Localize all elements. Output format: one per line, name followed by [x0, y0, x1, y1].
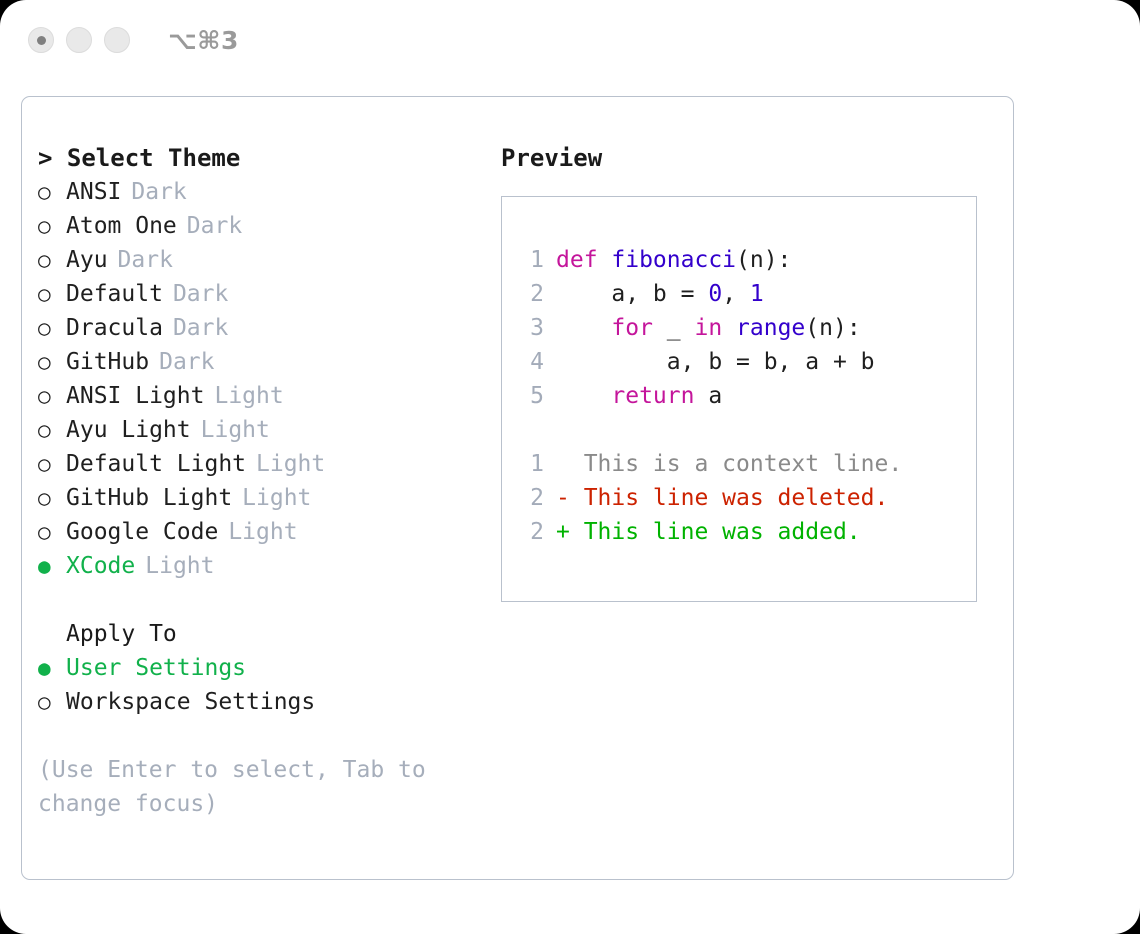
theme-option-label: Default [66, 277, 163, 311]
line-number: 2 [518, 481, 544, 515]
theme-option-label: Google Code [66, 515, 218, 549]
radio-unselected-icon: ○ [38, 311, 66, 345]
theme-option-label: Default Light [66, 447, 246, 481]
apply-option-label: User Settings [66, 651, 246, 685]
window-titlebar: ⌥⌘3 [0, 0, 1140, 80]
radio-unselected-icon: ○ [38, 243, 66, 277]
code-sample: 1def fibonacci(n):2 a, b = 0, 13 for _ i… [518, 243, 976, 413]
radio-unselected-icon: ○ [38, 175, 66, 209]
list-spacer [38, 583, 488, 617]
theme-option-label: XCode [66, 549, 135, 583]
theme-category-label: Dark [118, 243, 173, 277]
token-fn: range [736, 315, 805, 341]
line-number: 2 [518, 277, 544, 311]
theme-option-github[interactable]: ○GitHubDark [38, 345, 488, 379]
preview-box: 1def fibonacci(n):2 a, b = 0, 13 for _ i… [501, 196, 977, 602]
theme-option-ansi-light[interactable]: ○ANSI LightLight [38, 379, 488, 413]
theme-category-label: Light [228, 515, 297, 549]
theme-option-label: Ayu Light [66, 413, 191, 447]
theme-option-label: ANSI [66, 175, 121, 209]
active-indicator-dot [37, 36, 46, 45]
theme-category-label: Dark [173, 311, 228, 345]
keyboard-shortcut-label: ⌥⌘3 [168, 26, 239, 55]
theme-selector-panel: > Select Theme ○ANSIDark○Atom OneDark○Ay… [21, 96, 1014, 880]
token-plain: a, b = [556, 281, 708, 307]
apply-to-heading: Apply To [38, 617, 488, 651]
theme-option-xcode[interactable]: ●XCodeLight [38, 549, 488, 583]
line-number: 3 [518, 311, 544, 345]
code-text: a, b = 0, 1 [556, 277, 764, 311]
apply-option-workspace-settings[interactable]: ○Workspace Settings [38, 685, 488, 719]
token-del: - This line was deleted. [556, 485, 888, 511]
token-plain: a [694, 383, 722, 409]
radio-unselected-icon: ○ [38, 481, 66, 515]
line-number: 1 [518, 243, 544, 277]
diff-line: 1 This is a context line. [518, 447, 976, 481]
theme-option-google-code[interactable]: ○Google CodeLight [38, 515, 488, 549]
radio-unselected-icon: ○ [38, 515, 66, 549]
line-number: 4 [518, 345, 544, 379]
theme-option-ayu-light[interactable]: ○Ayu LightLight [38, 413, 488, 447]
token-plain: (n): [736, 247, 791, 273]
line-number: 5 [518, 379, 544, 413]
token-num: 0 [708, 281, 722, 307]
traffic-light-3[interactable] [104, 27, 130, 53]
diff-line: 2+ This line was added. [518, 515, 976, 549]
theme-option-list[interactable]: ○ANSIDark○Atom OneDark○AyuDark○DefaultDa… [38, 175, 488, 583]
hint-spacer [38, 719, 488, 753]
code-text: + This line was added. [556, 515, 861, 549]
code-text: a, b = b, a + b [556, 345, 875, 379]
theme-option-github-light[interactable]: ○GitHub LightLight [38, 481, 488, 515]
theme-option-dracula[interactable]: ○DraculaDark [38, 311, 488, 345]
select-theme-heading: > Select Theme [38, 141, 488, 175]
theme-category-label: Light [242, 481, 311, 515]
app-window: ⌥⌘3 > Select Theme ○ANSIDark○Atom OneDar… [0, 0, 1140, 934]
theme-option-label: GitHub Light [66, 481, 232, 515]
theme-option-label: Dracula [66, 311, 163, 345]
token-fn: fibonacci [611, 247, 736, 273]
token-plain [556, 315, 611, 341]
preview-heading: Preview [501, 141, 1001, 175]
token-plain [722, 315, 736, 341]
diff-line: 2- This line was deleted. [518, 481, 976, 515]
theme-category-label: Light [256, 447, 325, 481]
code-line: 5 return a [518, 379, 976, 413]
code-line: 1def fibonacci(n): [518, 243, 976, 277]
apply-option-label: Workspace Settings [66, 685, 315, 719]
preview-column: Preview 1def fibonacci(n):2 a, b = 0, 13… [501, 141, 1001, 602]
token-plain: , [722, 281, 750, 307]
token-kw: def [556, 247, 611, 273]
theme-option-atom-one[interactable]: ○Atom OneDark [38, 209, 488, 243]
code-line: 4 a, b = b, a + b [518, 345, 976, 379]
diff-sample: 1 This is a context line.2- This line wa… [518, 447, 976, 549]
code-text: def fibonacci(n): [556, 243, 791, 277]
radio-unselected-icon: ○ [38, 209, 66, 243]
token-plain [556, 383, 611, 409]
radio-unselected-icon: ○ [38, 447, 66, 481]
token-kw: for [611, 315, 653, 341]
theme-category-label: Dark [159, 345, 214, 379]
radio-unselected-icon: ○ [38, 277, 66, 311]
token-kw: in [694, 315, 722, 341]
theme-category-label: Light [214, 379, 283, 413]
theme-category-label: Dark [131, 175, 186, 209]
apply-option-user-settings[interactable]: ●User Settings [38, 651, 488, 685]
radio-selected-icon: ● [38, 651, 66, 685]
theme-option-label: GitHub [66, 345, 149, 379]
radio-selected-icon: ● [38, 549, 66, 583]
code-text: for _ in range(n): [556, 311, 861, 345]
theme-option-ansi[interactable]: ○ANSIDark [38, 175, 488, 209]
theme-option-label: Ayu [66, 243, 108, 277]
token-ctx: This is a context line. [556, 451, 902, 477]
token-kw: return [611, 383, 694, 409]
line-number: 1 [518, 447, 544, 481]
traffic-light-2[interactable] [66, 27, 92, 53]
code-text: return a [556, 379, 722, 413]
theme-category-label: Light [145, 549, 214, 583]
traffic-light-active[interactable] [28, 27, 54, 53]
token-plain: (n): [805, 315, 860, 341]
radio-unselected-icon: ○ [38, 685, 66, 719]
code-line: 2 a, b = 0, 1 [518, 277, 976, 311]
theme-option-label: ANSI Light [66, 379, 204, 413]
keyboard-hint-text: (Use Enter to select, Tab to change focu… [38, 753, 458, 821]
theme-option-ayu[interactable]: ○AyuDark [38, 243, 488, 277]
theme-option-label: Atom One [66, 209, 177, 243]
code-text: - This line was deleted. [556, 481, 888, 515]
window-controls [28, 27, 130, 53]
theme-category-label: Dark [187, 209, 242, 243]
radio-unselected-icon: ○ [38, 379, 66, 413]
code-line: 3 for _ in range(n): [518, 311, 976, 345]
token-add: + This line was added. [556, 519, 861, 545]
line-number: 2 [518, 515, 544, 549]
token-num: 1 [750, 281, 764, 307]
token-plain: a, b = b, a + b [556, 349, 875, 375]
theme-option-default[interactable]: ○DefaultDark [38, 277, 488, 311]
apply-to-option-list[interactable]: ●User Settings○Workspace Settings [38, 651, 488, 719]
theme-list-column: > Select Theme ○ANSIDark○Atom OneDark○Ay… [38, 141, 488, 821]
theme-option-default-light[interactable]: ○Default LightLight [38, 447, 488, 481]
token-plain: _ [653, 315, 695, 341]
theme-category-label: Light [201, 413, 270, 447]
radio-unselected-icon: ○ [38, 345, 66, 379]
theme-category-label: Dark [173, 277, 228, 311]
radio-unselected-icon: ○ [38, 413, 66, 447]
code-diff-spacer [518, 413, 976, 447]
code-text: This is a context line. [556, 447, 902, 481]
